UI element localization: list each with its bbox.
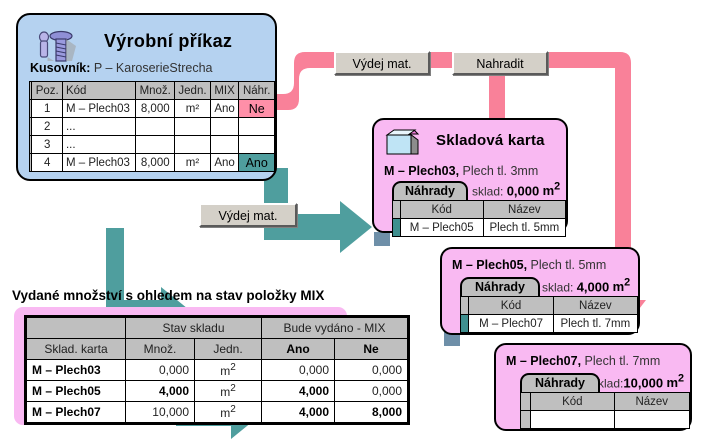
cell-nahr-no[interactable]: Ne [239, 100, 275, 118]
row-selector-header [461, 297, 469, 315]
cell-jedn [175, 118, 210, 136]
table-header-row: Sklad. karta Množ. Jedn. Ano Ne [27, 339, 408, 360]
table-row[interactable]: M – Plech03 0,000 m2 0,000 0,000 [27, 360, 408, 381]
col-jedn: Jedn. [195, 339, 262, 360]
cell-kod: M – Plech03 [62, 154, 135, 172]
stock-value: 10,000 [623, 375, 663, 390]
table-header-row: Kód Název [393, 201, 566, 219]
bom-value: P – KaroserieStrecha [94, 61, 213, 75]
col-nazev: Název [483, 201, 565, 219]
stock-amount: sklad: 4,000 m2 [542, 277, 630, 294]
order-rows: 1 M – Plech03 8,000 m² Ano Ne 2 ... 3 ..… [30, 100, 275, 172]
cell-mnoz: 10,000 [126, 402, 195, 423]
cell-ano: 4,000 [262, 381, 335, 402]
table-row[interactable]: M – Plech07 Plech tl. 7mm [461, 315, 638, 333]
issue-material-button-mid[interactable]: Výdej mat. [199, 203, 297, 227]
production-order-panel: Výrobní příkaz Kusovník: P – KaroserieSt… [16, 13, 277, 181]
stock-amount: sklad:10,000 m2 [592, 373, 684, 390]
cell-jedn: m2 [195, 381, 262, 402]
stock-amount: sklad: 0,000 m2 [472, 181, 560, 198]
stock-card-plech03[interactable]: Skladová karta M – Plech03, Plech tl. 3m… [372, 118, 568, 233]
stock-label: sklad: [472, 184, 503, 198]
cell-mnoz: 8,000 [136, 100, 175, 118]
cell-jedn: m² [175, 100, 210, 118]
col-kod: Kód [469, 297, 553, 315]
col-mnoz: Množ. [136, 82, 175, 100]
card-code: M – Plech03, Plech tl. 3mm [384, 164, 538, 178]
col-sklad-karta: Sklad. karta [27, 339, 126, 360]
cell-nahr [239, 118, 275, 136]
cell-card: M – Plech03 [27, 360, 126, 381]
col-poz: Poz. [32, 82, 63, 100]
cell-ne: 0,000 [335, 360, 408, 381]
stock-card-plech07[interactable]: M – Plech07, Plech tl. 7mm sklad:10,000 … [494, 343, 692, 431]
cell-mnoz [136, 136, 175, 154]
col-ne: Ne [335, 339, 408, 360]
cell-mix: Ano [210, 154, 239, 172]
cell-jedn: m2 [195, 402, 262, 423]
row-selector-header [521, 393, 531, 411]
summary-title: Vydané množství s ohledem na stav položk… [12, 288, 324, 303]
substitutes-table[interactable]: Kód Název M – Plech05 Plech tl. 5mm [392, 200, 566, 237]
cell-mnoz: 8,000 [136, 154, 175, 172]
cell-kod: M – Plech05 [400, 219, 483, 237]
table-row[interactable] [521, 411, 690, 429]
card-desc: Plech tl. 5mm [531, 258, 607, 272]
table-row[interactable]: M – Plech07 10,000 m2 4,000 8,000 [27, 402, 408, 423]
cell-kod: M – Plech07 [469, 315, 553, 333]
issue-material-button-top[interactable]: Výdej mat. [334, 51, 430, 75]
row-selector-selected[interactable] [393, 219, 401, 237]
cell-mnoz: 4,000 [126, 381, 195, 402]
row-selector-header [393, 201, 401, 219]
stock-value: 0,000 [507, 183, 540, 198]
cell-ano: 0,000 [262, 360, 335, 381]
card-title: Skladová karta [436, 132, 545, 149]
col-nazev: Název [553, 297, 637, 315]
row-selector[interactable] [521, 411, 531, 429]
cell-mix [210, 136, 239, 154]
cell-mnoz [136, 118, 175, 136]
group-col-bude-vydano: Bude vydáno - MIX [262, 318, 408, 339]
bom-label: Kusovník: [30, 61, 90, 75]
cell-nahr [239, 136, 275, 154]
cell-poz: 2 [32, 118, 63, 136]
folder-icon [384, 128, 422, 158]
col-kod: Kód [400, 201, 483, 219]
stock-value: 4,000 [577, 279, 610, 294]
card-code-value: M – Plech07, [506, 354, 581, 368]
col-nazev: Název [614, 393, 689, 411]
table-row[interactable]: M – Plech05 4,000 m2 4,000 0,000 [27, 381, 408, 402]
card-code: M – Plech05, Plech tl. 5mm [452, 258, 606, 272]
table-row[interactable]: M – Plech05 Plech tl. 5mm [393, 219, 566, 237]
group-col-blank [27, 318, 126, 339]
cell-card: M – Plech07 [27, 402, 126, 423]
col-mnoz: Množ. [126, 339, 195, 360]
table-row[interactable]: 1 M – Plech03 8,000 m² Ano Ne [30, 100, 275, 118]
cell-jedn: m² [175, 154, 210, 172]
cell-kod: M – Plech03 [62, 100, 135, 118]
cell-poz: 1 [32, 100, 63, 118]
tab-nahrady[interactable]: Náhrady [392, 181, 468, 200]
table-header-row: Poz. Kód Množ. Jedn. MIX Náhr. [30, 82, 275, 100]
cell-jedn [175, 136, 210, 154]
card-code: M – Plech07, Plech tl. 7mm [506, 354, 660, 368]
card-desc: Plech tl. 7mm [585, 354, 661, 368]
stock-unit: m2 [543, 183, 561, 198]
col-kod: Kód [62, 82, 135, 100]
page-title: Výrobní příkaz [104, 31, 232, 52]
cell-nazev: Plech tl. 7mm [553, 315, 637, 333]
order-lines-table[interactable]: Poz. Kód Množ. Jedn. MIX Náhr. 1 M – Ple… [29, 81, 275, 172]
cell-mix: Ano [210, 100, 239, 118]
card-code-value: M – Plech03, [384, 164, 459, 178]
group-col-stav-skladu: Stav skladu [126, 318, 262, 339]
col-jedn: Jedn. [175, 82, 210, 100]
substitutes-table[interactable]: Kód Název M – Plech07 Plech tl. 7mm [460, 296, 638, 333]
table-row[interactable]: 2 ... [30, 118, 275, 136]
summary-table[interactable]: Stav skladu Bude vydáno - MIX Sklad. kar… [26, 317, 408, 423]
cell-ne: 8,000 [335, 402, 408, 423]
table-row[interactable]: 4 M – Plech03 8,000 m² Ano Ano [30, 154, 275, 172]
tab-nahrady[interactable]: Náhrady [520, 373, 600, 392]
col-kod: Kód [531, 393, 614, 411]
summary-table-frame: Stav skladu Bude vydáno - MIX Sklad. kar… [24, 315, 410, 425]
cell-jedn: m2 [195, 360, 262, 381]
col-nahr: Náhr. [239, 82, 275, 100]
cell-mnoz: 0,000 [126, 360, 195, 381]
substitutes-table[interactable]: Kód Název [520, 392, 690, 429]
cell-poz: 3 [32, 136, 63, 154]
cell-nahr-yes[interactable]: Ano [239, 154, 275, 172]
cell-kod [531, 411, 614, 429]
cell-kod: ... [62, 118, 135, 136]
bom-line: Kusovník: P – KaroserieStrecha [30, 61, 213, 75]
card-code-value: M – Plech05, [452, 258, 527, 272]
table-row[interactable]: 3 ... [30, 136, 275, 154]
replace-button[interactable]: Nahradit [452, 51, 548, 75]
teal-junction-1 [374, 232, 390, 246]
tab-nahrady[interactable]: Náhrady [460, 277, 540, 296]
col-ano: Ano [262, 339, 335, 360]
stock-unit: m2 [613, 279, 631, 294]
table-group-header-row: Stav skladu Bude vydáno - MIX [27, 318, 408, 339]
stock-label: sklad: [542, 280, 573, 294]
stock-unit: m2 [666, 375, 684, 390]
cell-ano: 4,000 [262, 402, 335, 423]
table-header-row: Kód Název [461, 297, 638, 315]
col-mix: MIX [210, 82, 239, 100]
card-desc: Plech tl. 3mm [463, 164, 539, 178]
row-selector-selected[interactable] [461, 315, 469, 333]
cell-nazev [614, 411, 689, 429]
cell-card: M – Plech05 [27, 381, 126, 402]
cell-mix [210, 118, 239, 136]
stock-card-plech05[interactable]: M – Plech05, Plech tl. 5mm sklad: 4,000 … [440, 247, 640, 335]
cell-ne: 0,000 [335, 381, 408, 402]
cell-kod: ... [62, 136, 135, 154]
cell-poz: 4 [32, 154, 63, 172]
table-header-row: Kód Název [521, 393, 690, 411]
cell-nazev: Plech tl. 5mm [483, 219, 565, 237]
